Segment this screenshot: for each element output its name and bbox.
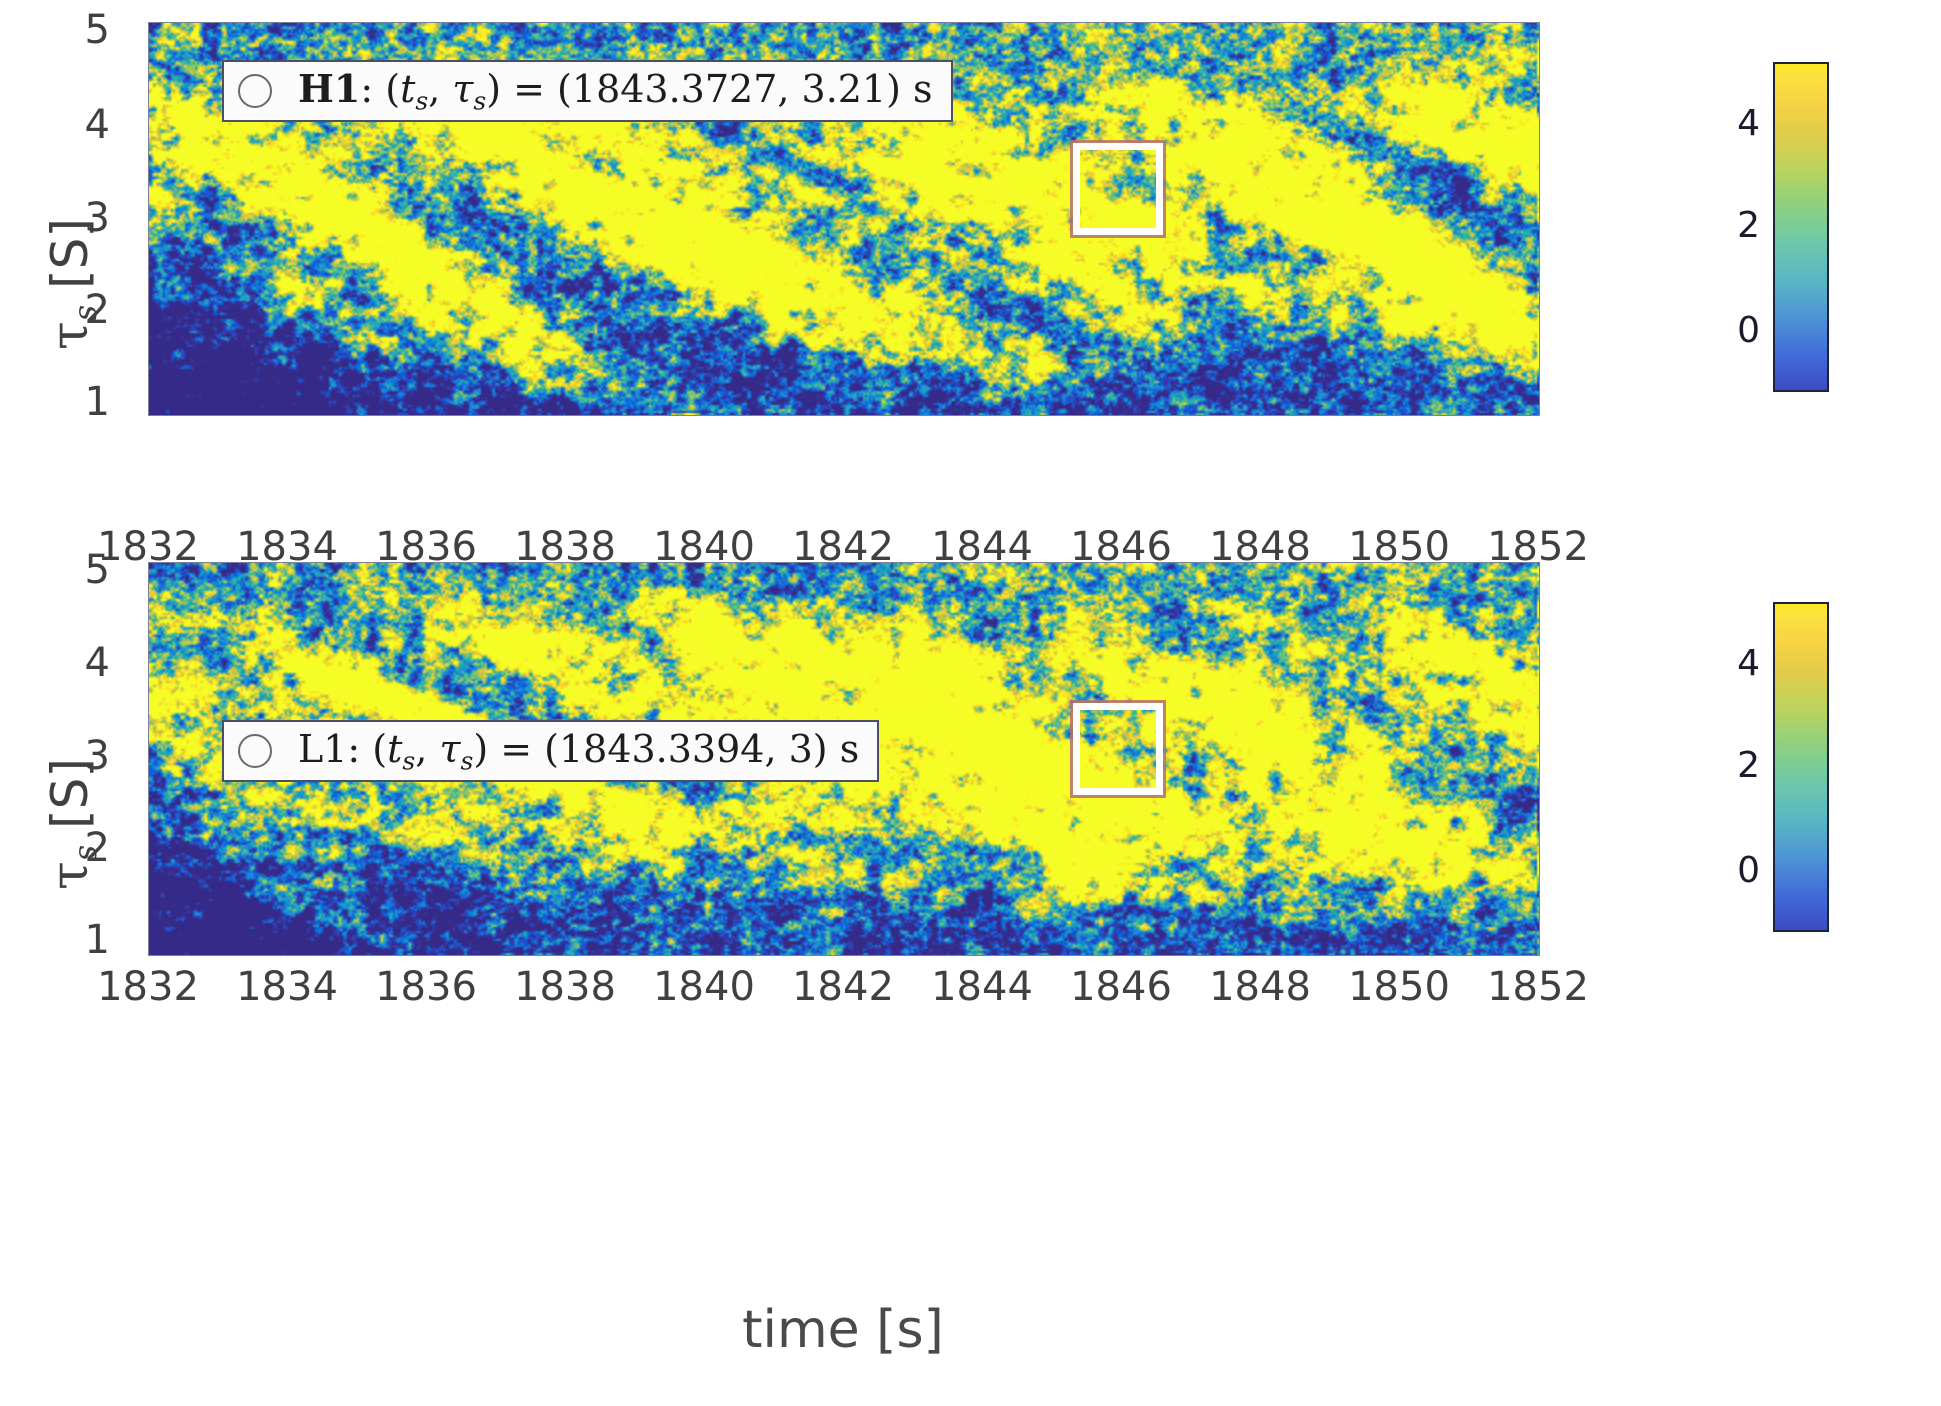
colorbar-l1 (1773, 602, 1829, 932)
xtick-label: 1844 (912, 527, 1052, 567)
xtick-label: 1850 (1329, 967, 1469, 1007)
xtick-label: 1842 (773, 967, 913, 1007)
legend-equals: ) = ( (473, 727, 559, 771)
legend-t-symbol: t (387, 727, 402, 771)
xtick-label: 1846 (1051, 967, 1191, 1007)
legend-marker-circle-icon (238, 74, 272, 108)
colorbar-tick-label: 2 (1690, 748, 1760, 784)
xtick-label: 1844 (912, 967, 1052, 1007)
legend-l1[interactable]: L1: (ts, τs) = (1843.3394, 3) s (222, 720, 879, 782)
xtick-label: 1838 (495, 967, 635, 1007)
xtick-label: 1848 (1190, 967, 1330, 1007)
legend-equals: ) = ( (486, 67, 572, 111)
legend-text-l1: L1: (ts, τs) = (1843.3394, 3) s (298, 727, 859, 776)
legend-lhs: : ( (360, 67, 400, 111)
x-axis-label: time [s] (693, 1300, 993, 1360)
xtick-label: 1842 (773, 527, 913, 567)
legend-tau-subscript: s (460, 746, 473, 775)
legend-close: ) s (886, 67, 932, 111)
ytick-label: 5 (20, 10, 110, 50)
xtick-label: 1838 (495, 527, 635, 567)
ytick-label: 4 (20, 105, 110, 145)
legend-comma: , (415, 727, 439, 771)
ytick-label: 5 (20, 550, 110, 590)
xtick-label: 1850 (1329, 527, 1469, 567)
xtick-label: 1852 (1468, 527, 1608, 567)
colorbar-tick-label: 4 (1690, 646, 1760, 682)
legend-marker-circle-icon (238, 734, 272, 768)
legend-values: 1843.3394, 3 (559, 727, 813, 771)
xtick-label: 1832 (78, 967, 218, 1007)
xtick-label: 1836 (356, 527, 496, 567)
colorbar-tick-label: 4 (1690, 106, 1760, 142)
ytick-label: 1 (20, 920, 110, 960)
xtick-label: 1834 (217, 527, 357, 567)
legend-text-h1: H1: (ts, τs) = (1843.3727, 3.21) s (298, 66, 933, 116)
xtick-label: 1846 (1051, 527, 1191, 567)
legend-t-symbol: t (400, 67, 415, 111)
xtick-label: 1834 (217, 967, 357, 1007)
legend-values: 1843.3727, 3.21 (572, 67, 886, 111)
colorbar-tick-label: 0 (1690, 313, 1760, 349)
legend-lhs: : ( (347, 727, 387, 771)
xtick-label: 1852 (1468, 967, 1608, 1007)
legend-h1[interactable]: H1: (ts, τs) = (1843.3727, 3.21) s (222, 60, 953, 122)
legend-close: ) s (813, 727, 859, 771)
colorbar-tick-label: 2 (1690, 208, 1760, 244)
legend-t-subscript: s (402, 746, 415, 775)
ytick-label: 4 (20, 643, 110, 683)
ytick-label: 1 (20, 382, 110, 422)
legend-detector-label: H1 (298, 66, 360, 111)
colorbar-h1 (1773, 62, 1829, 392)
figure-root: 5 4 3 2 1 τs [S] 4 2 0 H1: (ts, τs) = (1… (0, 0, 1941, 1406)
colorbar-tick-label: 0 (1690, 853, 1760, 889)
xtick-label: 1836 (356, 967, 496, 1007)
legend-tau-symbol: τ (439, 727, 460, 771)
xtick-label: 1840 (634, 967, 774, 1007)
legend-tau-symbol: τ (452, 67, 473, 111)
y-axis-label: τs [S] (40, 758, 104, 890)
legend-tau-subscript: s (473, 87, 486, 116)
legend-comma: , (428, 67, 452, 111)
xtick-label: 1840 (634, 527, 774, 567)
xtick-label: 1848 (1190, 527, 1330, 567)
legend-t-subscript: s (415, 87, 428, 116)
legend-detector-label: L1 (298, 727, 347, 771)
y-axis-label: τs [S] (40, 218, 104, 350)
